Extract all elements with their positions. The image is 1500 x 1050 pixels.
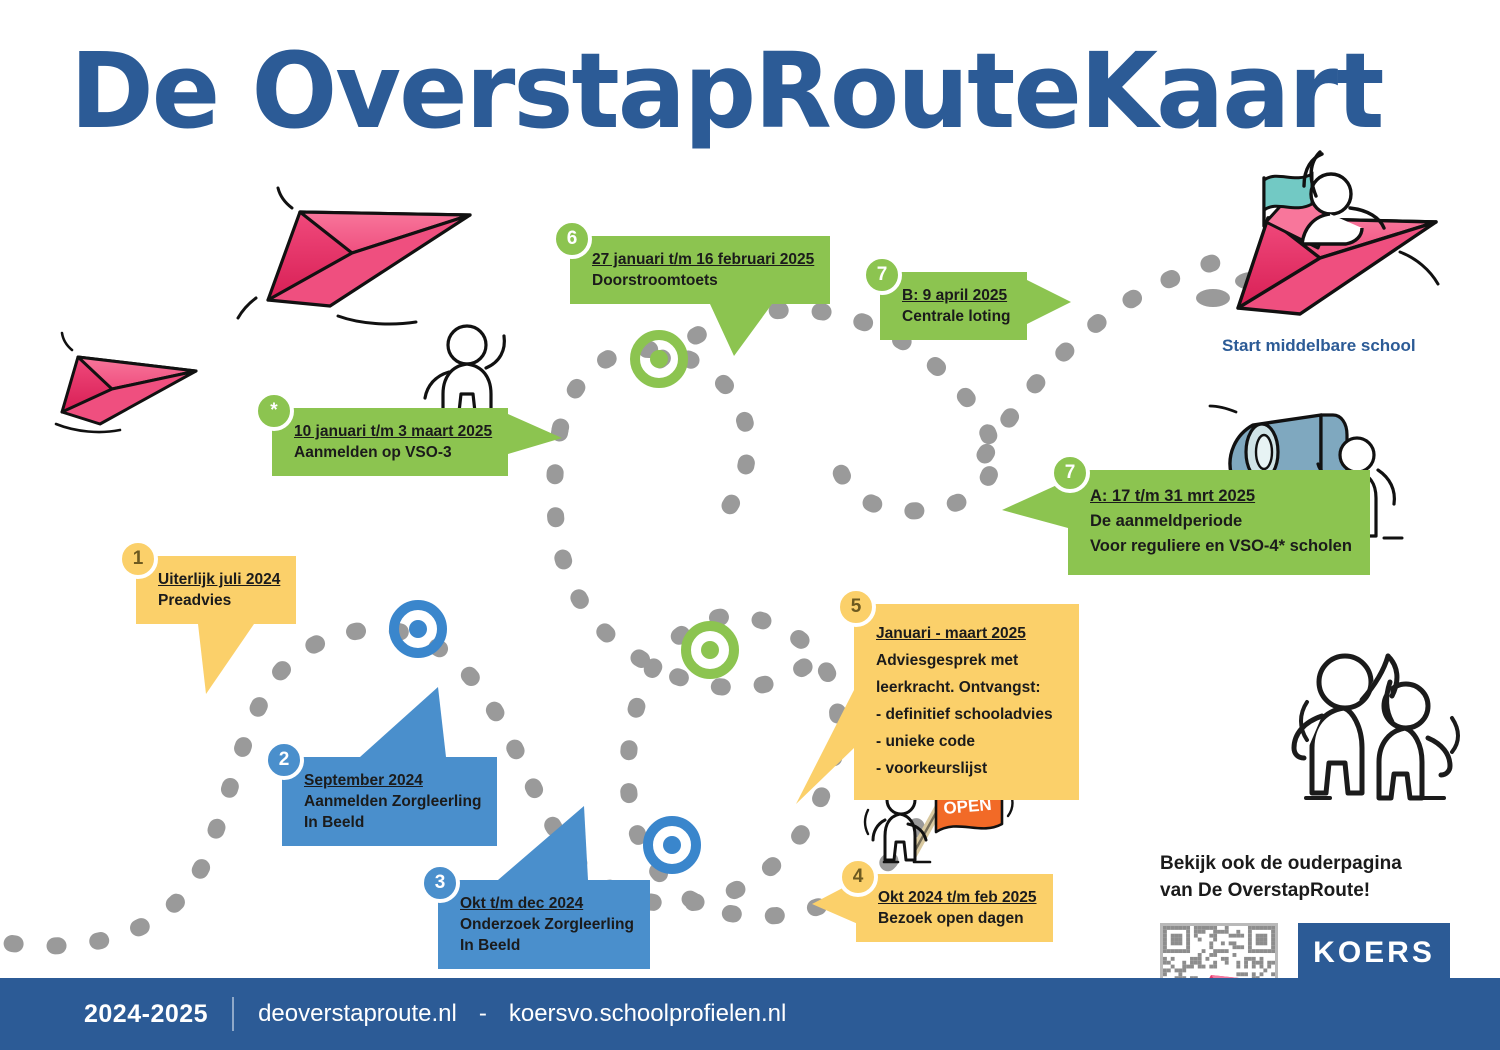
callout-4-line-2: Bezoek open dagen (878, 908, 1037, 929)
callout-1-line-2: Preadvies (158, 590, 280, 611)
callout-3-badge: 3 (420, 863, 460, 903)
callout-7a-badge: 7 (1050, 453, 1090, 493)
callout-2[interactable]: 2 September 2024 Aanmelden Zorgleerling … (282, 757, 497, 846)
callout-2-line-3: In Beeld (304, 812, 481, 833)
paper-plane-finish-icon (1196, 152, 1438, 314)
callout-1-body: Uiterlijk juli 2024 Preadvies (136, 556, 296, 624)
logo-koers-block: KOERS (1298, 923, 1450, 982)
callout-4-badge: 4 (838, 857, 878, 897)
callout-vso3-badge: * (254, 391, 294, 431)
waypoint-marker-green-2 (686, 626, 734, 674)
callout-7a-line-2: De aanmeldperiode (1090, 509, 1352, 534)
logo-koers-text: KOERS (1313, 936, 1435, 970)
parent-page-line-1: Bekijk ook de ouderpagina (1160, 850, 1460, 877)
start-label: Start middelbare school (1222, 336, 1416, 356)
callout-vso3-tail (508, 414, 564, 470)
callout-5-line-2: Adviesgesprek met (876, 647, 1053, 674)
waypoint-marker-green-1 (635, 335, 683, 383)
callout-5-tail (796, 690, 856, 810)
callout-7b-tail (1027, 280, 1073, 340)
callout-vso3-line-1: 10 januari t/m 3 maart 2025 (294, 421, 492, 442)
callout-5-line-3: leerkracht. Ontvangst: (876, 674, 1053, 701)
callout-7b-line-1: B: 9 april 2025 (902, 285, 1011, 306)
callout-7a[interactable]: 7 A: 17 t/m 31 mrt 2025 De aanmeldperiod… (1068, 470, 1370, 575)
callout-5-body: Januari - maart 2025 Adviesgesprek met l… (854, 604, 1079, 800)
callout-2-body: September 2024 Aanmelden Zorgleerling In… (282, 757, 497, 846)
callout-6-line-1: 27 januari t/m 16 februari 2025 (592, 249, 814, 270)
footer-url-2[interactable]: koersvo.schoolprofielen.nl (509, 1000, 787, 1028)
callout-4-body: Okt 2024 t/m feb 2025 Bezoek open dagen (856, 874, 1053, 942)
callout-vso3-body: 10 januari t/m 3 maart 2025 Aanmelden op… (272, 408, 508, 476)
footer-bar: 2024-2025 deoverstaproute.nl - koersvo.s… (0, 978, 1500, 1050)
footer-dash: - (479, 1000, 487, 1028)
callout-5-badge: 5 (836, 587, 876, 627)
callout-6-badge: 6 (552, 219, 592, 259)
callout-1[interactable]: 1 Uiterlijk juli 2024 Preadvies (136, 556, 296, 624)
footer-content: 2024-2025 deoverstaproute.nl - koersvo.s… (84, 978, 786, 1050)
callout-7b-body: B: 9 april 2025 Centrale loting (880, 272, 1027, 340)
callout-1-line-1: Uiterlijk juli 2024 (158, 569, 280, 590)
callout-3-line-2: Onderzoek Zorgleerling (460, 914, 634, 935)
footer-divider (232, 997, 234, 1031)
callout-2-line-1: September 2024 (304, 770, 481, 791)
callout-3-body: Okt t/m dec 2024 Onderzoek Zorgleerling … (438, 880, 650, 969)
callout-1-tail (198, 624, 278, 696)
callout-2-tail (360, 687, 450, 759)
callout-5-line-4: - definitief schooladvies (876, 701, 1053, 728)
callout-3-tail (498, 806, 588, 882)
callout-vso3-line-2: Aanmelden op VSO-3 (294, 442, 492, 463)
footer-url-1[interactable]: deoverstaproute.nl (258, 1000, 457, 1028)
callout-vso3[interactable]: * 10 januari t/m 3 maart 2025 Aanmelden … (272, 408, 508, 476)
callout-7a-line-1: A: 17 t/m 31 mrt 2025 (1090, 484, 1352, 509)
callout-4-line-1: Okt 2024 t/m feb 2025 (878, 887, 1037, 908)
callout-3-line-3: In Beeld (460, 935, 634, 956)
callout-6-tail (710, 304, 790, 356)
callout-7b-line-2: Centrale loting (902, 306, 1011, 327)
callout-7b-badge: 7 (862, 255, 902, 295)
callout-6-body: 27 januari t/m 16 februari 2025 Doorstro… (570, 236, 830, 304)
parent-page-line-2: van De OverstapRoute! (1160, 877, 1460, 904)
callout-5-line-5: - unieke code (876, 728, 1053, 755)
callout-7b[interactable]: 7 B: 9 april 2025 Centrale loting (880, 272, 1027, 340)
callout-1-badge: 1 (118, 539, 158, 579)
parent-page-text: Bekijk ook de ouderpagina van De Oversta… (1160, 850, 1460, 904)
callout-5-line-6: - voorkeurslijst (876, 755, 1053, 782)
callout-7a-body: A: 17 t/m 31 mrt 2025 De aanmeldperiode … (1068, 470, 1370, 575)
callout-2-line-2: Aanmelden Zorgleerling (304, 791, 481, 812)
callout-6-line-2: Doorstroomtoets (592, 270, 814, 291)
callout-6[interactable]: 6 27 januari t/m 16 februari 2025 Doorst… (570, 236, 830, 304)
high-five-figures-icon (1294, 656, 1450, 798)
callout-3[interactable]: 3 Okt t/m dec 2024 Onderzoek Zorgleerlin… (438, 880, 650, 969)
paper-plane-large-icon (238, 188, 470, 324)
poster-canvas: De OverstapRouteKaart (0, 0, 1500, 1050)
paper-plane-small-icon (56, 333, 196, 432)
callout-5-line-1: Januari - maart 2025 (876, 620, 1053, 647)
callout-7a-line-3: Voor reguliere en VSO-4* scholen (1090, 534, 1352, 559)
callout-3-line-1: Okt t/m dec 2024 (460, 893, 634, 914)
waypoint-marker-blue-2 (648, 821, 696, 869)
callout-4[interactable]: 4 Okt 2024 t/m feb 2025 Bezoek open dage… (856, 874, 1053, 942)
callout-5[interactable]: 5 Januari - maart 2025 Adviesgesprek met… (854, 604, 1079, 800)
callout-2-badge: 2 (264, 740, 304, 780)
footer-year: 2024-2025 (84, 1000, 208, 1029)
